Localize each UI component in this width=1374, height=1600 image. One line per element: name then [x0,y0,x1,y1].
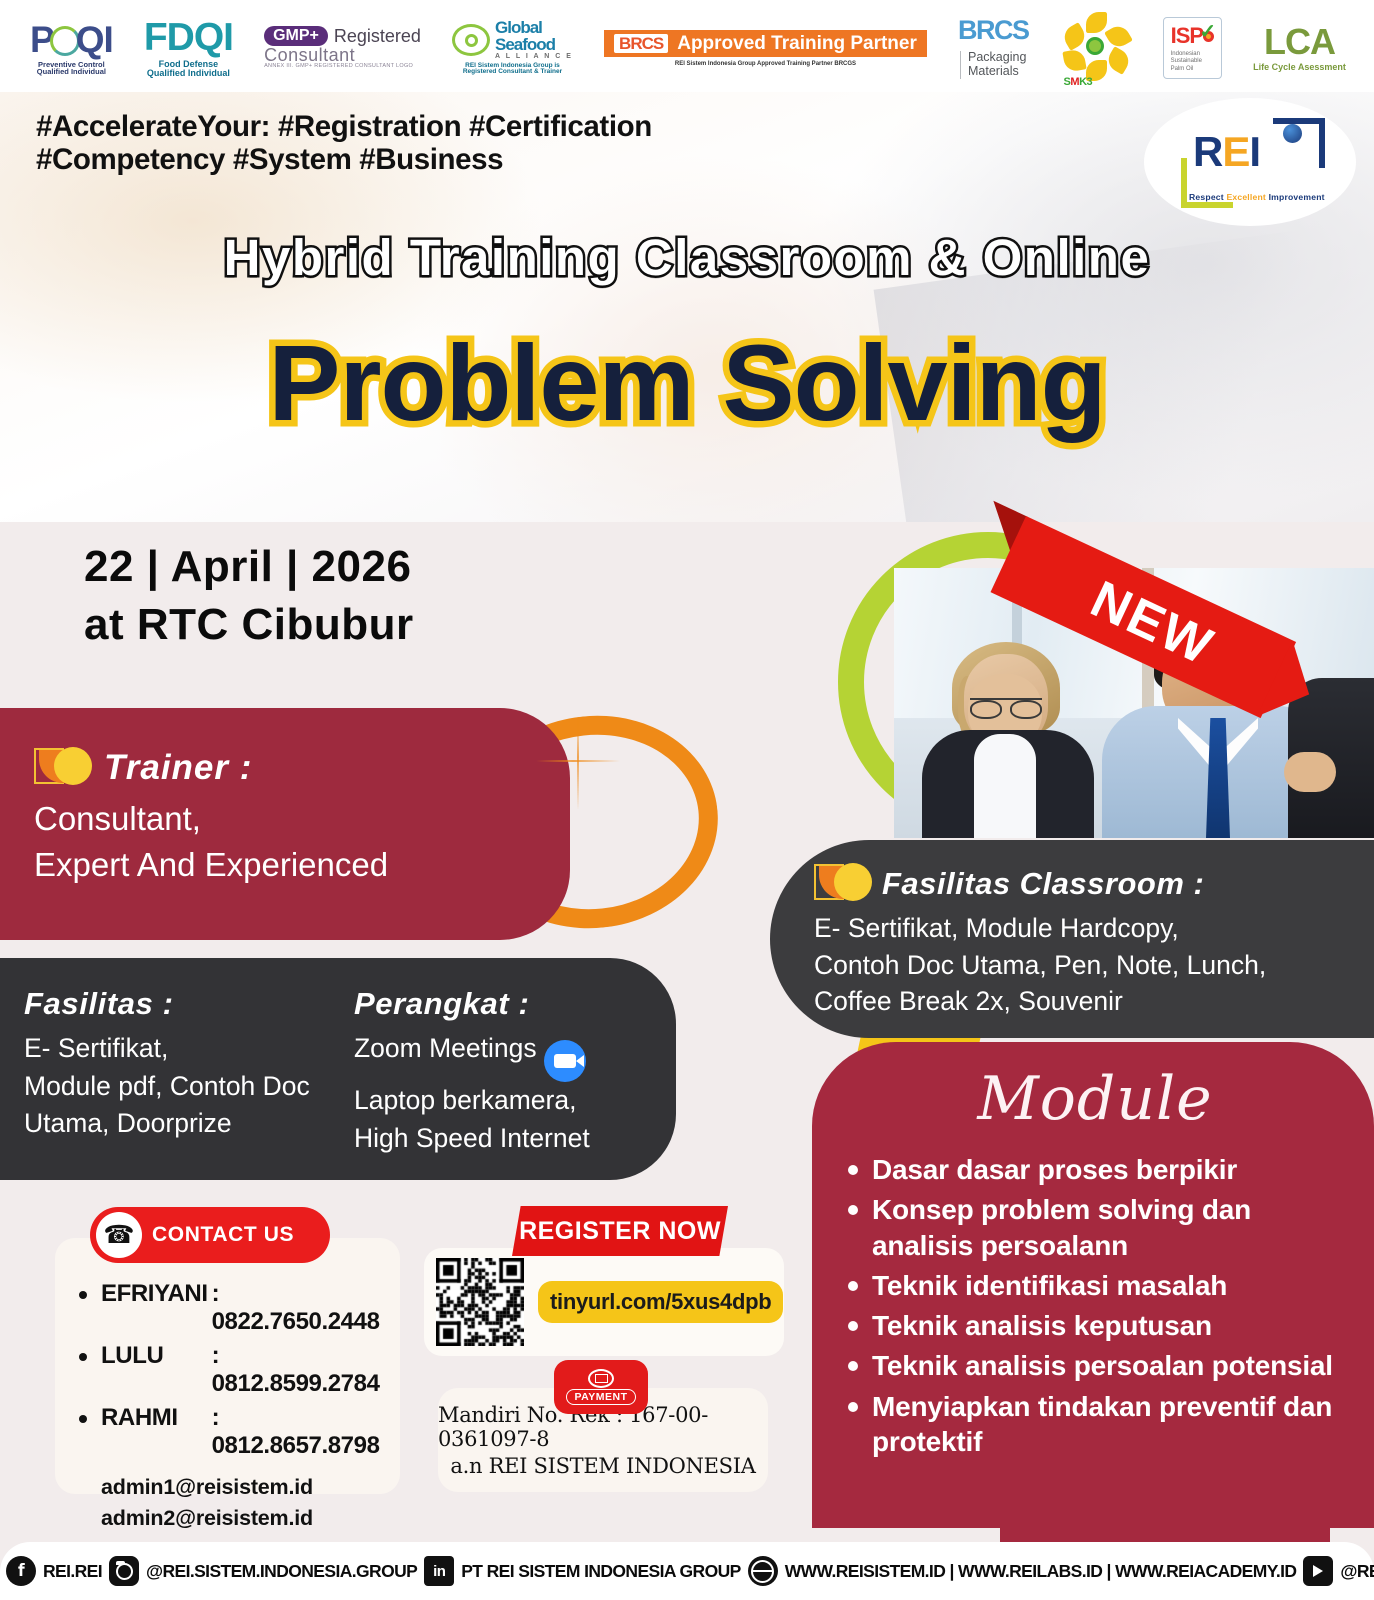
lca-logo: LCA Life Cycle Asessment [1253,24,1346,72]
rei-logo-badge: REI Respect Excellent Improvement [1144,98,1356,226]
photo-person-woman [912,648,1102,838]
payment-account-name: a.n REI SISTEM INDONESIA [450,1454,755,1478]
certification-logo-strip: PQI Preventive Control Qualified Individ… [0,0,1374,92]
smk3-logo: SMK3 [1060,10,1132,86]
rei-letter-i: I [1249,128,1260,175]
payment-label: PAYMENT [566,1389,635,1405]
payment-card-icon [588,1369,614,1388]
module-item: Teknik identifikasi masalah [838,1268,1352,1303]
fdqi-logo: FDQI Food Defense Qualified Individual [144,18,233,78]
facebook-icon[interactable]: f [6,1556,36,1586]
list-item: EFRIYANI: 0822.7650.2448 [73,1280,382,1336]
pcqi-title-qi: QI [76,19,113,60]
smk3-core-icon [1086,37,1104,55]
facilities-body: E- Sertifikat, Module pdf, Contoh Doc Ut… [24,1030,320,1143]
zoom-video-icon [544,1040,586,1082]
contact-name: EFRIYANI [101,1280,212,1336]
page-title: Problem Solving [0,320,1374,445]
hero-subtitle: Hybrid Training Classroom & Online [0,228,1374,287]
devices-column: Perangkat : Zoom Meetings Laptop berkame… [354,986,650,1180]
lca-subtitle: Life Cycle Asessment [1253,63,1346,72]
trainer-title: Trainer : [104,748,252,788]
hashtag-line: #AccelerateYour: #Registration #Certific… [36,110,652,177]
module-card: Module Dasar dasar proses berpikir Konse… [812,1042,1374,1528]
module-item: Menyiapkan tindakan preventif dan protek… [838,1389,1352,1460]
fdqi-title: FDQI [144,18,233,57]
rei-bracket-top-right [1273,118,1325,168]
devices-title: Perangkat : [354,986,650,1022]
contact-name: RAHMI [101,1404,212,1460]
contact-phone: : 0812.8599.2784 [212,1342,382,1398]
contact-phone: : 0822.7650.2448 [212,1280,382,1336]
atp-title: Approved Training Partner [677,34,917,53]
contact-card: EFRIYANI: 0822.7650.2448 LULU: 0812.8599… [55,1238,400,1494]
globe-icon [1283,124,1302,143]
gsa-alliance-label: A L L I A N C E [495,53,573,60]
facilities-column: Fasilitas : E- Sertifikat, Module pdf, C… [24,986,320,1180]
devices-zoom-label: Zoom Meetings [354,1033,537,1063]
qr-code[interactable] [436,1258,524,1346]
phone-icon: ☎ [96,1212,142,1258]
list-item: LULU: 0812.8599.2784 [73,1342,382,1398]
social-footer: f REI.REI @REI.SISTEM.INDONESIA.GROUP in… [0,1542,1374,1600]
contact-us-label: CONTACT US [152,1223,294,1247]
youtube-handle: @REISISTEMINDONESIAGRP [1340,1561,1374,1582]
glasses-icon [970,698,1042,713]
payment-button[interactable]: PAYMENT [554,1360,648,1414]
registration-url[interactable]: tinyurl.com/5xus4dpb [538,1281,783,1323]
globe-website-icon[interactable] [748,1556,778,1586]
ispo-check-icon: ✓ [1199,19,1216,44]
smk3-label: SMK3 [1064,76,1093,88]
sparkle-icon [536,716,620,810]
module-item: Konsep problem solving dan analisis pers… [838,1192,1352,1263]
gsa-subtitle: REI Sistem Indonesia Group is Registered… [463,63,562,76]
packaging-title: Packaging [968,51,1026,65]
rei-tagline-excellent: Excellent [1226,192,1268,202]
registration-qr-card: tinyurl.com/5xus4dpb [424,1248,784,1356]
rei-letter-e: E [1222,128,1249,175]
linkedin-icon[interactable]: in [424,1556,454,1586]
contact-emails[interactable]: admin1@reisistem.id admin2@reisistem.id [73,1472,382,1533]
register-now-button[interactable]: REGISTER NOW [512,1206,728,1256]
module-list: Dasar dasar proses berpikir Konsep probl… [838,1152,1352,1459]
brcgs-packaging-mark: BRCS [958,17,1029,44]
ispo-subtitle: Indonesian Sustainable Palm Oil [1171,51,1214,74]
brcgs-packaging-materials-logo: BRCS Packaging Materials [958,17,1029,79]
global-seafood-alliance-logo: Global Seafood A L L I A N C E REI Siste… [452,20,573,75]
contact-name: LULU [101,1342,212,1398]
facilities-devices-card: Fasilitas : E- Sertifikat, Module pdf, C… [0,958,676,1180]
linkedin-handle: PT REI SISTEM INDONESIA GROUP [461,1561,741,1582]
classroom-body: E- Sertifikat, Module Hardcopy, Contoh D… [814,910,1350,1020]
website-urls: WWW.REISISTEM.ID | WWW.REILABS.ID | WWW.… [785,1561,1297,1582]
atp-subtitle: REI Sistem Indonesia Group Approved Trai… [675,61,856,67]
facilities-title: Fasilitas : [24,986,320,1022]
training-poster: PQI Preventive Control Qualified Individ… [0,0,1374,1600]
date-location: 22 | April | 2026 at RTC Cibubur [84,538,414,654]
classroom-facilities-card: Fasilitas Classroom : E- Sertifikat, Mod… [770,840,1374,1038]
youtube-icon[interactable] [1303,1556,1333,1586]
gmp-registered-label: Registered [334,27,421,45]
gmp-subtitle: ANNEX III. GMP+ REGISTERED CONSULTANT LO… [264,64,413,70]
rei-tagline-improvement: Improvement [1269,192,1325,202]
module-title: Module [838,1064,1352,1134]
devices-body: Laptop berkamera, High Speed Internet [354,1085,590,1153]
contact-us-button[interactable]: ☎ CONTACT US [90,1207,330,1263]
instagram-icon[interactable] [109,1556,139,1586]
module-item: Dasar dasar proses berpikir [838,1152,1352,1187]
gmp-plus-logo: GMP+ Registered Consultant ANNEX III. GM… [264,26,421,70]
rei-tagline-respect: Respect [1189,192,1226,202]
trainer-marker-icon [34,746,88,790]
trainer-card: Trainer : Consultant, Expert And Experie… [0,708,570,940]
instagram-handle: @REI.SISTEM.INDONESIA.GROUP [146,1561,417,1582]
contact-phone: : 0812.8657.8798 [212,1404,382,1460]
register-now-label: REGISTER NOW [519,1217,721,1246]
list-item: RAHMI: 0812.8657.8798 [73,1404,382,1460]
trainer-body: Consultant, Expert And Experienced [34,796,530,887]
contact-list: EFRIYANI: 0822.7650.2448 LULU: 0812.8599… [73,1280,382,1460]
module-item: Teknik analisis persoalan potensial [838,1348,1352,1383]
classroom-marker-icon [814,862,868,906]
pcqi-subtitle: Preventive Control Qualified Individual [37,61,106,76]
seafood-eye-icon [452,24,490,56]
brcgs-mark: BRCS [614,34,668,53]
fdqi-subtitle: Food Defense Qualified Individual [147,60,230,78]
facebook-handle: REI.REI [43,1561,102,1582]
lca-title: LCA [1264,24,1335,60]
module-item: Teknik analisis keputusan [838,1308,1352,1343]
gsa-title2: Seafood [495,37,573,53]
pcqi-logo: PQI Preventive Control Qualified Individ… [30,21,113,76]
classroom-title: Fasilitas Classroom : [882,866,1204,902]
rei-letter-r: R [1193,128,1222,175]
brcgs-approved-training-partner-logo: BRCS Approved Training Partner REI Siste… [604,30,927,67]
gmp-badge: GMP+ [264,26,328,46]
ispo-logo: ✓ ISP Indonesian Sustainable Palm Oil [1163,17,1222,80]
packaging-title2: Materials [968,65,1026,79]
gmp-consultant-label: Consultant [264,46,355,64]
